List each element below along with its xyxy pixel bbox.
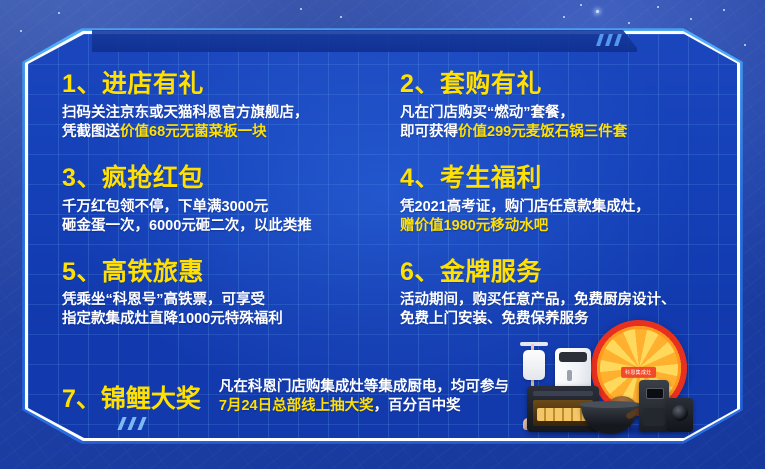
promo-item-3: 3、疯抢红包 千万红包领不停，下单满3000元 砸金蛋一次，6000元砸二次，以… — [62, 164, 392, 236]
text-run: 千万红包领不停，下单满3000元 — [62, 199, 268, 215]
promo-item-7-line-2: 7月24日总部线上抽大奖，百分百中奖 — [219, 397, 509, 416]
promo-item-7-body: 凡在科恩门店购集成灶等集成厨电，均可参与 7月24日总部线上抽大奖，百分百中奖 — [219, 378, 509, 416]
promo-banner: 1、进店有礼 扫码关注京东或天猫科恩官方旗舰店， 凭截图送价值68元无菌菜板一块… — [0, 0, 765, 469]
product-badge-label: 科恩集成灶 — [621, 367, 656, 378]
text-run: 扫码关注京东或天猫科恩官方旗舰店， — [62, 105, 309, 121]
star-speck — [744, 44, 746, 46]
promo-item-7-line-1: 凡在科恩门店购集成灶等集成厨电，均可参与 — [219, 378, 509, 397]
star-speck — [596, 10, 599, 13]
promo-item-5-body: 凭乘坐“科恩号”高铁票，可享受 指定款集成灶直降1000元特殊福利 — [62, 291, 392, 329]
water-dispenser-top — [559, 352, 587, 362]
promo-item-4-title: 4、考生福利 — [400, 164, 730, 193]
promo-item-5-line-1: 凭乘坐“科恩号”高铁票，可享受 — [62, 291, 392, 310]
text-run: 凡在门店购买“燃动”套餐， — [400, 105, 574, 121]
star-speck — [690, 18, 692, 20]
promo-item-6-title-text: 金牌服务 — [440, 258, 542, 286]
text-run: 指定款集成灶直降1000元特殊福利 — [62, 311, 283, 327]
text-run: 凡在科恩门店购集成灶等集成厨电，均可参与 — [219, 379, 509, 395]
promo-item-3-line-2: 砸金蛋一次，6000元砸二次，以此类推 — [62, 217, 392, 236]
text-run: 即可获得 — [400, 124, 458, 140]
promo-item-1: 1、进店有礼 扫码关注京东或天猫科恩官方旗舰店， 凭截图送价值68元无菌菜板一块 — [62, 70, 392, 142]
text-run: 砸金蛋一次，6000元砸二次，以此类推 — [62, 218, 312, 234]
promo-item-3-line-1: 千万红包领不停，下单满3000元 — [62, 198, 392, 217]
promo-item-5-number: 5、 — [62, 258, 102, 286]
promo-item-2-line-2: 即可获得价值299元麦饭石锅三件套 — [400, 123, 730, 142]
promo-item-5: 5、高铁旅惠 凭乘坐“科恩号”高铁票，可享受 指定款集成灶直降1000元特殊福利 — [62, 258, 392, 330]
promo-item-4-line-2: 赠价值1980元移动水吧 — [400, 217, 730, 236]
star-speck — [340, 16, 342, 18]
text-run: 活动期间，购买任意产品，免费厨房设计、 — [400, 292, 676, 308]
promo-item-5-title: 5、高铁旅惠 — [62, 258, 392, 287]
promo-item-7-number: 7、 — [62, 385, 101, 413]
text-run-highlight: 价值68元无菌菜板一块 — [120, 124, 267, 140]
text-run-highlight: 7月24日总部线上抽大奖 — [219, 398, 374, 414]
handheld-appliance-display — [646, 388, 664, 399]
promo-item-1-body: 扫码关注京东或天猫科恩官方旗舰店， 凭截图送价值68元无菌菜板一块 — [62, 104, 392, 142]
promo-item-4-line-1: 凭2021高考证，购门店任意款集成灶， — [400, 198, 730, 217]
steam-oven-control-panel — [533, 391, 593, 396]
promo-item-4-title-text: 考生福利 — [440, 164, 542, 192]
text-run-highlight: 价值299元麦饭石锅三件套 — [458, 124, 627, 140]
star-speck — [628, 22, 630, 24]
promo-item-1-line-1: 扫码关注京东或天猫科恩官方旗舰店， — [62, 104, 392, 123]
water-dispenser-spout — [567, 370, 572, 381]
star-speck — [580, 4, 582, 6]
promo-item-1-line-2: 凭截图送价值68元无菌菜板一块 — [62, 123, 392, 142]
panel-content: 1、进店有礼 扫码关注京东或天猫科恩官方旗舰店， 凭截图送价值68元无菌菜板一块… — [22, 28, 743, 444]
promo-item-2-line-1: 凡在门店购买“燃动”套餐， — [400, 104, 730, 123]
promo-item-2-body: 凡在门店购买“燃动”套餐， 即可获得价值299元麦饭石锅三件套 — [400, 104, 730, 142]
promo-item-1-title: 1、进店有礼 — [62, 70, 392, 99]
promo-item-2-title-text: 套购有礼 — [440, 70, 542, 98]
promo-item-2: 2、套购有礼 凡在门店购买“燃动”套餐， 即可获得价值299元麦饭石锅三件套 — [400, 70, 730, 142]
promo-item-4: 4、考生福利 凭2021高考证，购门店任意款集成灶， 赠价值1980元移动水吧 — [400, 164, 730, 236]
promo-item-7-title-text: 锦鲤大奖 — [101, 385, 201, 413]
promo-item-6-number: 6、 — [400, 258, 440, 286]
promo-item-2-number: 2、 — [400, 70, 440, 98]
main-panel: 1、进店有礼 扫码关注京东或天猫科恩官方旗舰店， 凭截图送价值68元无菌菜板一块… — [22, 28, 743, 444]
promo-item-3-body: 千万红包领不停，下单满3000元 砸金蛋一次，6000元砸二次，以此类推 — [62, 198, 392, 236]
range-hood-fan — [672, 405, 688, 421]
promo-item-4-body: 凭2021高考证，购门店任意款集成灶， 赠价值1980元移动水吧 — [400, 198, 730, 236]
garment-steamer-hanger — [520, 342, 548, 346]
range-hood-unit — [667, 398, 693, 432]
promo-item-4-number: 4、 — [400, 164, 440, 192]
text-run-highlight: 赠价值1980元移动水吧 — [400, 218, 548, 234]
promo-item-3-title: 3、疯抢红包 — [62, 164, 392, 193]
star-speck — [563, 16, 565, 18]
star-speck — [300, 8, 302, 10]
star-speck — [723, 9, 725, 11]
promo-item-7-title: 7、锦鲤大奖 — [62, 379, 201, 415]
promo-item-5-title-text: 高铁旅惠 — [102, 258, 204, 286]
promo-column-left: 1、进店有礼 扫码关注京东或天猫科恩官方旗舰店， 凭截图送价值68元无菌菜板一块… — [62, 70, 392, 345]
promo-item-6-title: 6、金牌服务 — [400, 258, 730, 287]
promo-item-1-title-text: 进店有礼 — [102, 70, 204, 98]
promo-item-3-title-text: 疯抢红包 — [102, 164, 204, 192]
text-run: 凭乘坐“科恩号”高铁票，可享受 — [62, 292, 265, 308]
star-speck — [58, 12, 60, 14]
product-cluster: 科恩集成灶 — [521, 308, 701, 438]
handheld-appliance-grip — [643, 408, 665, 426]
text-run: 凭截图送 — [62, 124, 120, 140]
garment-steamer-body — [523, 350, 545, 380]
promo-item-3-number: 3、 — [62, 164, 102, 192]
star-speck — [657, 6, 659, 8]
text-run: ，百分百中奖 — [374, 398, 461, 414]
wok-rim — [579, 401, 641, 408]
promo-item-2-title: 2、套购有礼 — [400, 70, 730, 99]
handheld-appliance — [639, 380, 669, 432]
promo-item-5-line-2: 指定款集成灶直降1000元特殊福利 — [62, 310, 392, 329]
promo-item-1-number: 1、 — [62, 70, 102, 98]
text-run: 凭2021高考证，购门店任意款集成灶， — [400, 199, 650, 215]
promo-column-right: 2、套购有礼 凡在门店购买“燃动”套餐， 即可获得价值299元麦饭石锅三件套 4… — [400, 70, 730, 345]
